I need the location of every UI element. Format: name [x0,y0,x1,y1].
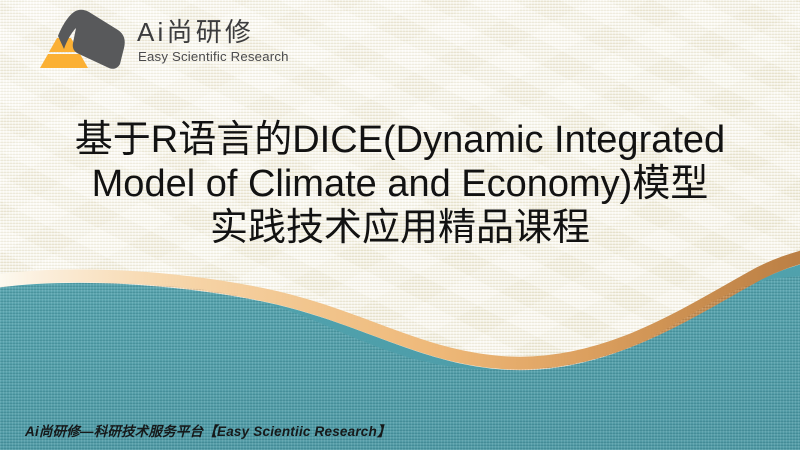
logo: Ai尚研修 Easy Scientific Research [32,8,288,76]
page-title: 基于R语言的DICE(Dynamic Integrated Model of C… [18,118,782,250]
title-line-2: Model of Climate and Economy)模型 [18,162,782,206]
logo-brand-en: Easy Scientific Research [138,49,288,64]
title-line-3: 实践技术应用精品课程 [18,206,782,250]
footer-brand-line: Ai尚研修—科研技术服务平台【Easy Scientiic Research】 [25,420,391,440]
title-line-1: 基于R语言的DICE(Dynamic Integrated [18,118,782,162]
slide-canvas: Ai尚研修 Easy Scientific Research 基于R语言的DIC… [0,0,800,450]
pyramid-layer-bottom-icon [40,54,88,68]
pyramid-book-logo-mark [40,10,125,69]
logo-brand-cn: Ai尚研修 [137,17,254,47]
